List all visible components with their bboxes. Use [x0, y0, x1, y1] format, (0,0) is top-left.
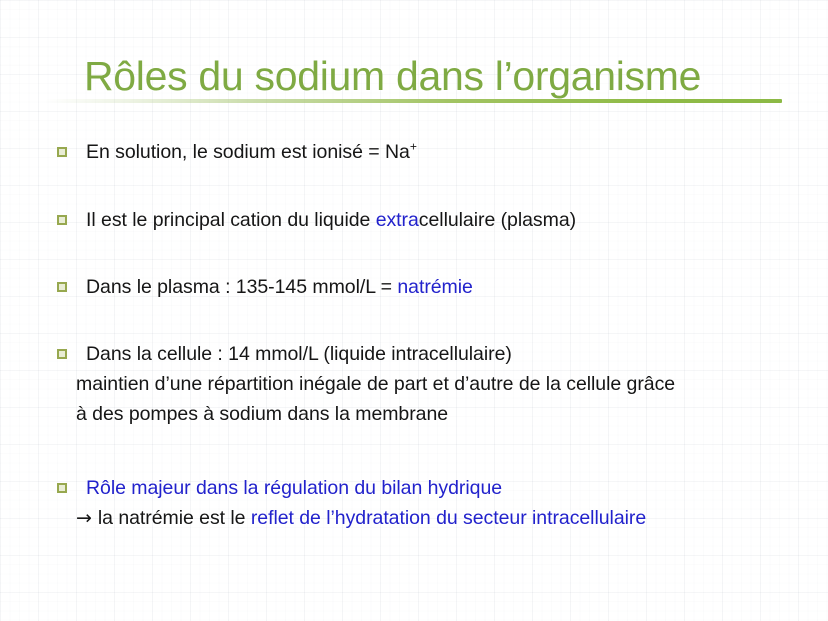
square-bullet-icon — [57, 147, 67, 157]
bullet-line: Dans le plasma : 135-145 mmol/L = natrém… — [56, 272, 826, 302]
bullet-block: Il est le principal cation du liquide ex… — [56, 205, 826, 235]
highlight-text: natrémie — [397, 276, 472, 298]
body-text: maintien d’une répartition inégale de pa… — [76, 373, 675, 395]
body-text: En solution, le sodium est ionisé = Na — [86, 141, 410, 163]
square-bullet-icon — [57, 349, 67, 359]
bullet-line: En solution, le sodium est ionisé = Na+ — [56, 137, 826, 167]
bullet-block: Dans la cellule : 14 mmol/L (liquide int… — [56, 339, 826, 429]
square-bullet-icon — [57, 483, 67, 493]
highlight-text: Rôle majeur dans la régulation du bilan … — [86, 477, 502, 499]
highlight-text: reflet de l’hydratation du secteur intra… — [251, 507, 646, 529]
body-text: la natrémie est le — [98, 507, 251, 529]
bullet-line: Rôle majeur dans la régulation du bilan … — [56, 473, 826, 503]
body-text: Dans le plasma : 135-145 mmol/L = — [86, 276, 397, 298]
body-text: cellulaire (plasma) — [419, 209, 576, 231]
square-bullet-icon — [57, 282, 67, 292]
square-bullet-icon — [57, 215, 67, 225]
bullet-line: Dans la cellule : 14 mmol/L (liquide int… — [56, 339, 826, 369]
body-text: Dans la cellule : 14 mmol/L (liquide int… — [86, 343, 512, 365]
body-text: Il est le principal cation du liquide — [86, 209, 376, 231]
bullet-line: Il est le principal cation du liquide ex… — [56, 205, 826, 235]
slide-canvas: Rôles du sodium dans l’organisme En solu… — [0, 0, 828, 621]
slide-body: En solution, le sodium est ionisé = Na+I… — [0, 0, 828, 621]
body-text: + — [410, 140, 417, 154]
bullet-block: En solution, le sodium est ionisé = Na+ — [56, 137, 826, 167]
continuation-line: → la natrémie est le reflet de l’hydrata… — [56, 503, 826, 533]
bullet-block: Dans le plasma : 135-145 mmol/L = natrém… — [56, 272, 826, 302]
continuation-line: à des pompes à sodium dans la membrane — [56, 399, 826, 429]
arrow-icon: → — [76, 507, 98, 529]
continuation-line: maintien d’une répartition inégale de pa… — [56, 369, 826, 399]
bullet-block: Rôle majeur dans la régulation du bilan … — [56, 473, 826, 533]
highlight-text: extra — [376, 209, 419, 231]
body-text: à des pompes à sodium dans la membrane — [76, 403, 448, 425]
